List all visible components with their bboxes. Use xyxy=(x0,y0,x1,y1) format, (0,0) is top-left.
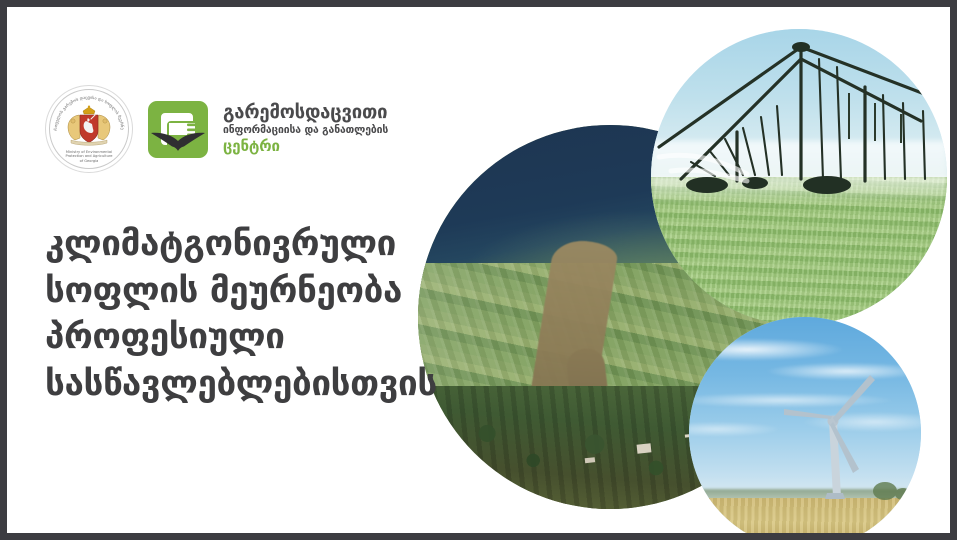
page-title: კლიმატგონივრული სოფლის მეურნეობა პროფესი… xyxy=(45,221,475,407)
title-line-1: კლიმატგონივრული xyxy=(45,221,475,268)
wind-turbine-structure xyxy=(689,317,921,533)
georgia-coat-of-arms-icon xyxy=(61,105,117,147)
wind-turbine-photo: ქარის ტურბინა ოქროსფერ ყანაში xyxy=(689,317,921,533)
logo-line-3: ცენტრი xyxy=(223,138,388,155)
ministry-emblem-icon: საქართველოს გარემოს დაცვისა და სოფლის მე… xyxy=(45,85,133,173)
poster-canvas: აერო ხედი სოფლის ველზე — მდინარე, სახნავ… xyxy=(7,7,950,533)
logo-wordmark: გარემოსდაცვითი ინფორმაციისა და განათლები… xyxy=(223,102,388,155)
center-pivot-irrigation-photo: ცენტრალურ-ღერძიანი სარწყავი სისტემა მწვა… xyxy=(651,29,947,325)
logo-line-2: ინფორმაციისა და განათლების xyxy=(223,123,388,139)
title-line-3: პროფესიული xyxy=(45,314,475,361)
logo-line-1: გარემოსდაცვითი xyxy=(223,103,388,122)
ministry-emblem-subtext: Ministry of Environmental Protection and… xyxy=(59,150,119,163)
title-line-2: სოფლის მეურნეობა xyxy=(45,268,475,315)
poster-frame: აერო ხედი სოფლის ველზე — მდინარე, სახნავ… xyxy=(0,0,957,540)
logo-lockup: საქართველოს გარემოს დაცვისა და სოფლის მე… xyxy=(45,85,388,173)
landscape-houses xyxy=(636,443,651,453)
eiec-book-leaf-icon xyxy=(147,99,209,159)
title-line-4: სასწავლებლებისთვის xyxy=(45,361,475,408)
irrigation-rig-structure xyxy=(651,29,947,325)
